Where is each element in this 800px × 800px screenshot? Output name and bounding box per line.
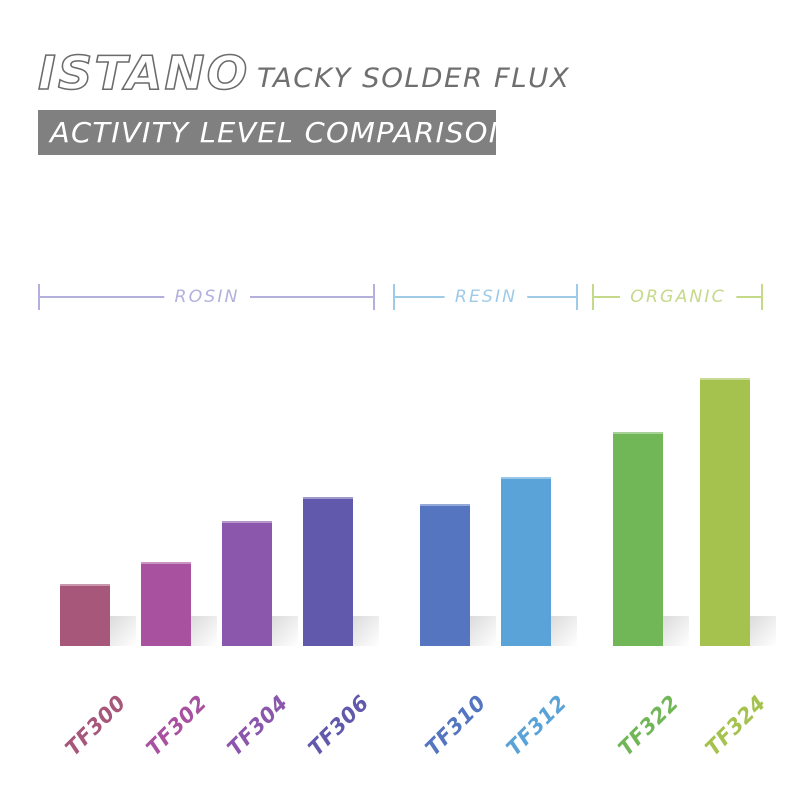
- bar-tf324[interactable]: [700, 378, 750, 646]
- chart-page: ISTANO TACKY SOLDER FLUX ACTIVITY LEVEL …: [0, 0, 800, 800]
- x-tick-label-tf324: TF324: [702, 692, 770, 760]
- x-tick-label-tf312: TF312: [503, 692, 571, 760]
- bar-shadow: [191, 616, 217, 646]
- bar-fill: [700, 378, 750, 646]
- bar-fill: [303, 497, 353, 646]
- x-tick-label-tf322: TF322: [615, 692, 683, 760]
- bar-shadow: [551, 616, 577, 646]
- bar-tf310[interactable]: [420, 504, 470, 646]
- category-bracket-organic: ORGANIC: [592, 284, 763, 312]
- bar-tf312[interactable]: [501, 477, 551, 646]
- bar-fill: [60, 584, 110, 646]
- bar-shadow: [110, 616, 136, 646]
- bar-tf300[interactable]: [60, 584, 110, 646]
- bar-fill: [613, 432, 663, 646]
- category-bracket-resin: RESIN: [393, 284, 578, 312]
- bar-shadow: [272, 616, 298, 646]
- category-label: RESIN: [444, 284, 527, 310]
- bar-tf322[interactable]: [613, 432, 663, 646]
- x-tick-label-tf304: TF304: [224, 692, 292, 760]
- bar-fill: [141, 562, 191, 646]
- category-label: ROSIN: [164, 284, 249, 310]
- title-banner: ACTIVITY LEVEL COMPARISON: [38, 110, 496, 155]
- chart-header: ISTANO TACKY SOLDER FLUX ACTIVITY LEVEL …: [38, 34, 778, 164]
- brand-block: ISTANO TACKY SOLDER FLUX: [38, 34, 564, 98]
- bar-tf304[interactable]: [222, 521, 272, 646]
- bar-tf302[interactable]: [141, 562, 191, 646]
- bar-fill: [501, 477, 551, 646]
- brand-tagline: TACKY SOLDER FLUX: [257, 65, 570, 98]
- category-bracket-row: ROSINRESINORGANIC: [0, 284, 800, 316]
- page-title: ACTIVITY LEVEL COMPARISON: [50, 119, 512, 147]
- bar-tf306[interactable]: [303, 497, 353, 646]
- bar-fill: [222, 521, 272, 646]
- bracket-cap-right-icon: [576, 284, 578, 310]
- bar-shadow: [470, 616, 496, 646]
- x-tick-label-tf300: TF300: [62, 692, 130, 760]
- bar-shadow: [750, 616, 776, 646]
- x-tick-label-tf306: TF306: [305, 692, 373, 760]
- brand-logo: ISTANO: [38, 50, 249, 98]
- category-label: ORGANIC: [620, 284, 736, 310]
- bar-shadow: [353, 616, 379, 646]
- bar-shadow: [663, 616, 689, 646]
- x-tick-label-tf310: TF310: [422, 692, 490, 760]
- bar-fill: [420, 504, 470, 646]
- bracket-cap-right-icon: [373, 284, 375, 310]
- category-bracket-rosin: ROSIN: [38, 284, 375, 312]
- bracket-cap-right-icon: [761, 284, 763, 310]
- x-tick-label-tf302: TF302: [143, 692, 211, 760]
